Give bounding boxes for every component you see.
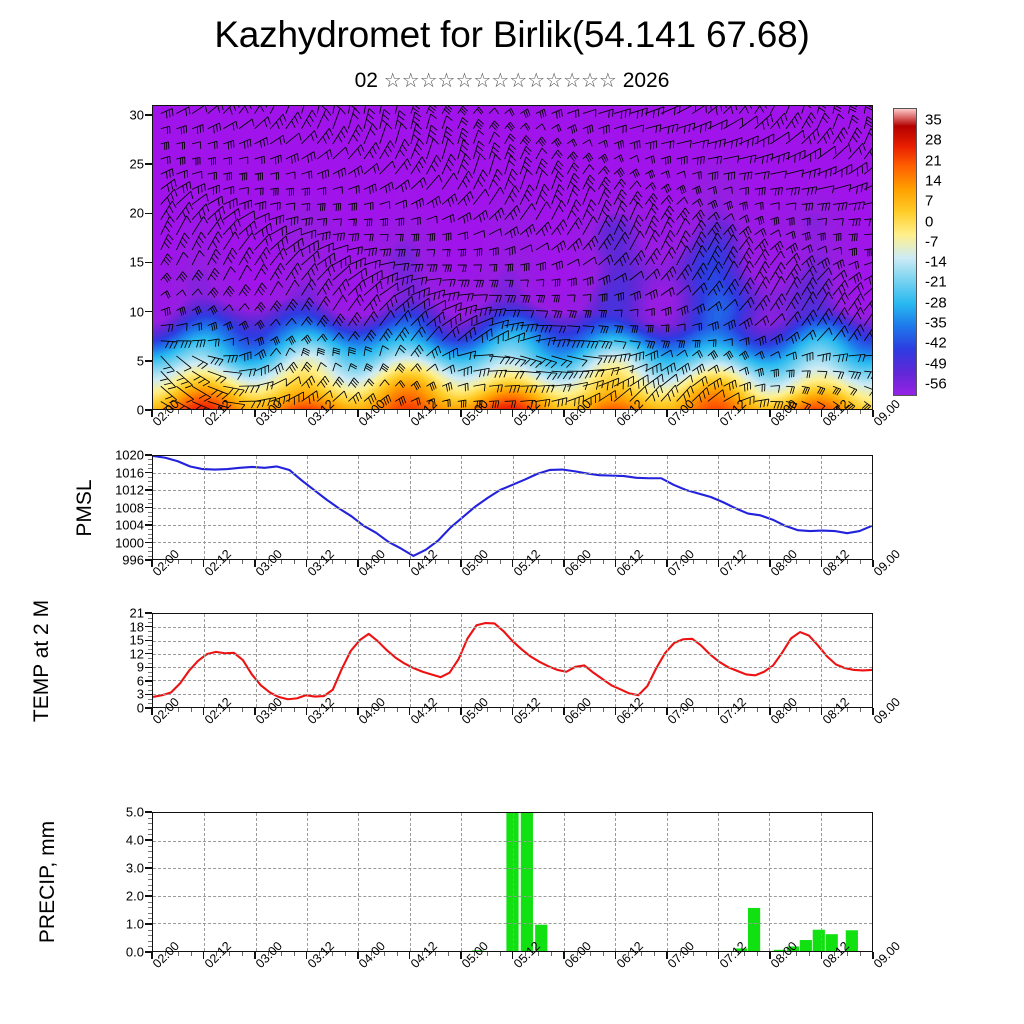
x-axis-minor-tick bbox=[551, 560, 552, 564]
y-axis-minor-tick bbox=[148, 464, 152, 465]
x-axis-minor-tick bbox=[178, 560, 179, 564]
x-axis-minor-tick bbox=[744, 560, 745, 564]
x-axis-minor-tick bbox=[191, 560, 192, 564]
x-axis-minor-tick bbox=[178, 410, 179, 414]
x-axis-minor-tick bbox=[680, 410, 681, 414]
x-axis-minor-tick bbox=[165, 952, 166, 956]
x-axis-label: 09.00 bbox=[871, 695, 903, 727]
y-axis-tick bbox=[145, 360, 152, 361]
y-axis-label: 0 bbox=[92, 701, 144, 716]
y-axis-tick bbox=[145, 472, 152, 473]
precipitation-axis-label: PRECIP, mm bbox=[36, 792, 60, 972]
grid-line-vertical bbox=[461, 813, 462, 951]
x-axis-minor-tick bbox=[525, 410, 526, 414]
y-axis-label: 1020 bbox=[92, 448, 144, 463]
y-axis-minor-tick bbox=[148, 918, 152, 919]
x-axis-minor-tick bbox=[487, 410, 488, 414]
x-axis-minor-tick bbox=[603, 410, 604, 414]
y-axis-minor-tick bbox=[148, 690, 152, 691]
x-axis-minor-tick bbox=[783, 952, 784, 956]
x-axis-minor-tick bbox=[809, 410, 810, 414]
y-axis-label: 1016 bbox=[92, 465, 144, 480]
y-axis-tick bbox=[145, 694, 152, 695]
x-axis-minor-tick bbox=[577, 410, 578, 414]
y-axis-label: 0 bbox=[92, 403, 144, 418]
x-axis-minor-tick bbox=[474, 708, 475, 712]
x-axis-minor-tick bbox=[796, 952, 797, 956]
y-axis-tick bbox=[145, 640, 152, 641]
x-axis-minor-tick bbox=[577, 560, 578, 564]
y-axis-label: 6 bbox=[92, 673, 144, 688]
x-axis-minor-tick bbox=[500, 708, 501, 712]
colorbar-label: 21 bbox=[925, 152, 942, 169]
x-axis-minor-tick bbox=[590, 560, 591, 564]
x-axis-minor-tick bbox=[268, 952, 269, 956]
x-axis-minor-tick bbox=[706, 560, 707, 564]
x-axis-minor-tick bbox=[229, 952, 230, 956]
y-axis-label: 996 bbox=[92, 553, 144, 568]
x-axis-minor-tick bbox=[757, 952, 758, 956]
x-axis-minor-tick bbox=[165, 708, 166, 712]
y-axis-tick bbox=[145, 213, 152, 214]
x-axis-minor-tick bbox=[860, 560, 861, 564]
y-axis-label: 25 bbox=[92, 157, 144, 172]
x-axis-minor-tick bbox=[538, 560, 539, 564]
x-axis-minor-tick bbox=[757, 708, 758, 712]
x-axis-minor-tick bbox=[281, 560, 282, 564]
y-axis-label: 2.0 bbox=[92, 889, 144, 904]
x-axis-minor-tick bbox=[847, 410, 848, 414]
x-axis-minor-tick bbox=[422, 560, 423, 564]
x-axis-minor-tick bbox=[834, 952, 835, 956]
x-axis-minor-tick bbox=[796, 708, 797, 712]
y-axis-tick bbox=[145, 895, 152, 896]
y-axis-label: 3 bbox=[92, 687, 144, 702]
y-axis-label: 12 bbox=[92, 646, 144, 661]
x-axis-minor-tick bbox=[397, 560, 398, 564]
x-axis-minor-tick bbox=[384, 952, 385, 956]
x-axis-minor-tick bbox=[783, 410, 784, 414]
subtitle-month-missing-glyphs: ☆☆☆☆☆☆☆☆☆☆☆☆☆ bbox=[384, 68, 617, 93]
y-axis-tick bbox=[145, 811, 152, 812]
x-axis-minor-tick bbox=[345, 560, 346, 564]
x-axis-minor-tick bbox=[500, 410, 501, 414]
x-axis-minor-tick bbox=[216, 708, 217, 712]
wind-barbs-overlay bbox=[153, 106, 872, 409]
x-axis-minor-tick bbox=[590, 410, 591, 414]
x-axis-minor-tick bbox=[834, 560, 835, 564]
grid-line-horizontal bbox=[153, 896, 872, 897]
grid-line-vertical bbox=[564, 813, 565, 951]
y-axis-tick bbox=[145, 489, 152, 490]
x-axis-minor-tick bbox=[191, 708, 192, 712]
x-axis-minor-tick bbox=[384, 560, 385, 564]
grid-line-horizontal bbox=[153, 508, 872, 509]
y-axis-minor-tick bbox=[148, 547, 152, 548]
x-axis-minor-tick bbox=[474, 560, 475, 564]
y-axis-tick bbox=[145, 114, 152, 115]
x-axis-minor-tick bbox=[603, 708, 604, 712]
temperature-2m-axis-label: TEMP at 2 M bbox=[30, 571, 54, 751]
x-axis-minor-tick bbox=[435, 708, 436, 712]
x-axis-minor-tick bbox=[281, 708, 282, 712]
y-axis-tick bbox=[145, 524, 152, 525]
x-axis-minor-tick bbox=[577, 708, 578, 712]
page-title: Kazhydromet for Birlik(54.141 67.68) bbox=[0, 14, 1024, 56]
pmsl-axis-label: PMSL bbox=[73, 418, 97, 598]
x-axis-minor-tick bbox=[371, 708, 372, 712]
x-axis-minor-tick bbox=[422, 410, 423, 414]
x-axis-minor-tick bbox=[538, 708, 539, 712]
x-axis-minor-tick bbox=[680, 952, 681, 956]
x-axis-minor-tick bbox=[525, 708, 526, 712]
y-axis-tick bbox=[145, 653, 152, 654]
y-axis-label: 20 bbox=[92, 206, 144, 221]
x-axis-minor-tick bbox=[809, 560, 810, 564]
x-axis-minor-tick bbox=[628, 708, 629, 712]
grid-line-vertical bbox=[204, 813, 205, 951]
x-axis-minor-tick bbox=[654, 952, 655, 956]
x-axis-minor-tick bbox=[757, 410, 758, 414]
y-axis-minor-tick bbox=[148, 902, 152, 903]
y-axis-minor-tick bbox=[148, 907, 152, 908]
y-axis-tick bbox=[145, 867, 152, 868]
x-axis-minor-tick bbox=[706, 708, 707, 712]
x-axis-minor-tick bbox=[487, 560, 488, 564]
x-axis-label: 09.00 bbox=[871, 397, 903, 429]
x-axis-minor-tick bbox=[294, 560, 295, 564]
y-axis-tick bbox=[145, 163, 152, 164]
grid-line-vertical bbox=[769, 813, 770, 951]
x-axis-minor-tick bbox=[216, 560, 217, 564]
grid-line-horizontal bbox=[153, 654, 872, 655]
y-axis-minor-tick bbox=[148, 676, 152, 677]
x-axis-minor-tick bbox=[706, 952, 707, 956]
y-axis-minor-tick bbox=[148, 521, 152, 522]
y-axis-label: 4.0 bbox=[92, 833, 144, 848]
y-axis-minor-tick bbox=[148, 481, 152, 482]
x-axis-minor-tick bbox=[525, 560, 526, 564]
colorbar-label: -21 bbox=[925, 274, 947, 291]
x-axis-minor-tick bbox=[371, 952, 372, 956]
y-axis-minor-tick bbox=[148, 946, 152, 947]
x-axis-minor-tick bbox=[847, 952, 848, 956]
x-axis-minor-tick bbox=[603, 560, 604, 564]
x-axis-minor-tick bbox=[191, 952, 192, 956]
x-axis-minor-tick bbox=[332, 952, 333, 956]
x-axis-minor-tick bbox=[487, 708, 488, 712]
y-axis-label: 15 bbox=[92, 633, 144, 648]
x-axis-minor-tick bbox=[860, 952, 861, 956]
x-axis-minor-tick bbox=[165, 410, 166, 414]
x-axis-minor-tick bbox=[783, 708, 784, 712]
x-axis-minor-tick bbox=[706, 410, 707, 414]
y-axis-tick bbox=[145, 454, 152, 455]
x-axis-minor-tick bbox=[487, 952, 488, 956]
y-axis-minor-tick bbox=[148, 930, 152, 931]
x-axis-minor-tick bbox=[757, 560, 758, 564]
grid-line-vertical bbox=[821, 813, 822, 951]
x-axis-minor-tick bbox=[834, 410, 835, 414]
y-axis-minor-tick bbox=[148, 529, 152, 530]
y-axis-minor-tick bbox=[148, 874, 152, 875]
y-axis-minor-tick bbox=[148, 622, 152, 623]
x-axis-minor-tick bbox=[319, 952, 320, 956]
temperature-colorbar bbox=[893, 108, 917, 396]
y-axis-minor-tick bbox=[148, 503, 152, 504]
x-axis-minor-tick bbox=[641, 952, 642, 956]
x-axis-minor-tick bbox=[242, 560, 243, 564]
x-axis-minor-tick bbox=[448, 952, 449, 956]
x-axis-minor-tick bbox=[422, 708, 423, 712]
x-axis-minor-tick bbox=[229, 560, 230, 564]
y-axis-minor-tick bbox=[148, 857, 152, 858]
y-axis-tick bbox=[145, 923, 152, 924]
x-axis-minor-tick bbox=[641, 560, 642, 564]
x-axis-minor-tick bbox=[731, 952, 732, 956]
x-axis-label: 09.00 bbox=[871, 547, 903, 579]
y-axis-minor-tick bbox=[148, 516, 152, 517]
x-axis-minor-tick bbox=[242, 708, 243, 712]
y-axis-minor-tick bbox=[148, 879, 152, 880]
x-axis-minor-tick bbox=[809, 952, 810, 956]
grid-line-vertical bbox=[667, 813, 668, 951]
colorbar-label: -49 bbox=[925, 355, 947, 372]
x-axis-minor-tick bbox=[371, 410, 372, 414]
x-axis-minor-tick bbox=[628, 952, 629, 956]
x-axis-label: 09.00 bbox=[871, 939, 903, 971]
grid-line-horizontal bbox=[153, 868, 872, 869]
x-axis-minor-tick bbox=[319, 708, 320, 712]
y-axis-minor-tick bbox=[148, 890, 152, 891]
x-axis-minor-tick bbox=[796, 560, 797, 564]
y-axis-minor-tick bbox=[148, 935, 152, 936]
grid-line-vertical bbox=[513, 813, 514, 951]
y-axis-label: 21 bbox=[92, 606, 144, 621]
y-axis-tick bbox=[145, 507, 152, 508]
x-axis-minor-tick bbox=[847, 560, 848, 564]
x-axis-minor-tick bbox=[294, 708, 295, 712]
x-axis-minor-tick bbox=[693, 410, 694, 414]
y-axis-tick bbox=[145, 262, 152, 263]
y-axis-tick bbox=[145, 839, 152, 840]
colorbar-label: 7 bbox=[925, 193, 933, 210]
y-axis-label: 30 bbox=[92, 107, 144, 122]
colorbar-label: -35 bbox=[925, 315, 947, 332]
y-axis-minor-tick bbox=[148, 658, 152, 659]
y-axis-minor-tick bbox=[148, 862, 152, 863]
x-axis-minor-tick bbox=[178, 708, 179, 712]
grid-line-vertical bbox=[615, 813, 616, 951]
y-axis-minor-tick bbox=[148, 534, 152, 535]
colorbar-label: -42 bbox=[925, 335, 947, 352]
x-axis-minor-tick bbox=[294, 952, 295, 956]
x-axis-minor-tick bbox=[680, 708, 681, 712]
x-axis-minor-tick bbox=[319, 410, 320, 414]
y-axis-minor-tick bbox=[148, 645, 152, 646]
x-axis-minor-tick bbox=[448, 708, 449, 712]
y-axis-tick bbox=[145, 612, 152, 613]
x-axis-minor-tick bbox=[603, 952, 604, 956]
y-axis-minor-tick bbox=[148, 672, 152, 673]
x-axis-minor-tick bbox=[319, 560, 320, 564]
x-axis-minor-tick bbox=[242, 410, 243, 414]
pmsl-plot bbox=[152, 455, 873, 560]
x-axis-minor-tick bbox=[294, 410, 295, 414]
y-axis-tick bbox=[145, 626, 152, 627]
y-axis-minor-tick bbox=[148, 834, 152, 835]
y-axis-minor-tick bbox=[148, 649, 152, 650]
x-axis-minor-tick bbox=[345, 708, 346, 712]
x-axis-minor-tick bbox=[345, 952, 346, 956]
x-axis-minor-tick bbox=[500, 560, 501, 564]
x-axis-minor-tick bbox=[834, 708, 835, 712]
y-axis-minor-tick bbox=[148, 699, 152, 700]
colorbar-label: 28 bbox=[925, 132, 942, 149]
x-axis-minor-tick bbox=[641, 708, 642, 712]
y-axis-label: 5 bbox=[92, 353, 144, 368]
x-axis-minor-tick bbox=[371, 560, 372, 564]
x-axis-minor-tick bbox=[783, 560, 784, 564]
x-axis-minor-tick bbox=[242, 952, 243, 956]
x-axis-minor-tick bbox=[860, 410, 861, 414]
x-axis-minor-tick bbox=[422, 952, 423, 956]
subtitle-date: 02 ☆☆☆☆☆☆☆☆☆☆☆☆☆ 2026 bbox=[0, 68, 1024, 93]
y-axis-minor-tick bbox=[148, 941, 152, 942]
x-axis-minor-tick bbox=[654, 560, 655, 564]
colorbar-label: -56 bbox=[925, 376, 947, 393]
grid-line-vertical bbox=[410, 813, 411, 951]
y-axis-label: 1004 bbox=[92, 518, 144, 533]
x-axis-minor-tick bbox=[628, 410, 629, 414]
x-axis-minor-tick bbox=[809, 708, 810, 712]
x-axis-minor-tick bbox=[590, 952, 591, 956]
y-axis-minor-tick bbox=[148, 818, 152, 819]
x-axis-minor-tick bbox=[384, 708, 385, 712]
y-axis-label: 1000 bbox=[92, 535, 144, 550]
y-axis-minor-tick bbox=[148, 885, 152, 886]
y-axis-label: 9 bbox=[92, 660, 144, 675]
x-axis-minor-tick bbox=[165, 560, 166, 564]
x-axis-minor-tick bbox=[332, 410, 333, 414]
x-axis-minor-tick bbox=[500, 952, 501, 956]
precipitation-bar bbox=[748, 908, 760, 952]
grid-line-horizontal bbox=[153, 473, 872, 474]
y-axis-tick bbox=[145, 542, 152, 543]
x-axis-minor-tick bbox=[216, 952, 217, 956]
y-axis-minor-tick bbox=[148, 486, 152, 487]
y-axis-minor-tick bbox=[148, 556, 152, 557]
x-axis-minor-tick bbox=[731, 560, 732, 564]
cross-section-plot bbox=[152, 105, 873, 410]
x-axis-minor-tick bbox=[448, 410, 449, 414]
colorbar-label: 0 bbox=[925, 213, 933, 230]
grid-line-vertical bbox=[358, 813, 359, 951]
grid-line-horizontal bbox=[153, 525, 872, 526]
y-axis-tick bbox=[145, 680, 152, 681]
y-axis-label: 18 bbox=[92, 619, 144, 634]
x-axis-minor-tick bbox=[474, 952, 475, 956]
y-axis-minor-tick bbox=[148, 468, 152, 469]
x-axis-minor-tick bbox=[268, 410, 269, 414]
y-axis-label: 0.0 bbox=[92, 945, 144, 960]
y-axis-minor-tick bbox=[148, 631, 152, 632]
x-axis-minor-tick bbox=[178, 952, 179, 956]
x-axis-minor-tick bbox=[693, 708, 694, 712]
x-axis-minor-tick bbox=[860, 708, 861, 712]
x-axis-minor-tick bbox=[448, 560, 449, 564]
x-axis-minor-tick bbox=[847, 708, 848, 712]
x-axis-minor-tick bbox=[577, 952, 578, 956]
y-axis-label: 5.0 bbox=[92, 805, 144, 820]
x-axis-minor-tick bbox=[435, 410, 436, 414]
x-axis-minor-tick bbox=[744, 708, 745, 712]
x-axis-minor-tick bbox=[397, 708, 398, 712]
x-axis-minor-tick bbox=[693, 560, 694, 564]
x-axis-minor-tick bbox=[435, 952, 436, 956]
precipitation-bar bbox=[813, 930, 825, 952]
precipitation-bar bbox=[521, 813, 533, 952]
y-axis-minor-tick bbox=[148, 538, 152, 539]
x-axis-minor-tick bbox=[551, 952, 552, 956]
y-axis-minor-tick bbox=[148, 494, 152, 495]
y-axis-label: 15 bbox=[92, 255, 144, 270]
subtitle-day: 02 bbox=[355, 69, 378, 92]
x-axis-minor-tick bbox=[229, 708, 230, 712]
x-axis-minor-tick bbox=[345, 410, 346, 414]
y-axis-label: 1012 bbox=[92, 483, 144, 498]
x-axis-minor-tick bbox=[281, 952, 282, 956]
subtitle-year: 2026 bbox=[623, 69, 670, 92]
colorbar-label: -28 bbox=[925, 294, 947, 311]
x-axis-minor-tick bbox=[654, 708, 655, 712]
y-axis-minor-tick bbox=[148, 512, 152, 513]
precipitation-bar bbox=[800, 940, 812, 952]
x-axis-minor-tick bbox=[435, 560, 436, 564]
y-axis-minor-tick bbox=[148, 499, 152, 500]
x-axis-minor-tick bbox=[551, 708, 552, 712]
grid-line-horizontal bbox=[153, 923, 872, 924]
y-axis-minor-tick bbox=[148, 477, 152, 478]
colorbar-label: 35 bbox=[925, 112, 942, 129]
colorbar-label: -7 bbox=[925, 233, 938, 250]
x-axis-minor-tick bbox=[731, 708, 732, 712]
x-axis-minor-tick bbox=[191, 410, 192, 414]
y-axis-label: 1008 bbox=[92, 500, 144, 515]
x-axis-minor-tick bbox=[744, 952, 745, 956]
grid-line-horizontal bbox=[153, 694, 872, 695]
y-axis-minor-tick bbox=[148, 829, 152, 830]
grid-line-horizontal bbox=[153, 841, 872, 842]
x-axis-minor-tick bbox=[384, 410, 385, 414]
y-axis-minor-tick bbox=[148, 636, 152, 637]
y-axis-label: 3.0 bbox=[92, 861, 144, 876]
x-axis-minor-tick bbox=[654, 410, 655, 414]
x-axis-minor-tick bbox=[268, 708, 269, 712]
y-axis-minor-tick bbox=[148, 551, 152, 552]
y-axis-label: 1.0 bbox=[92, 917, 144, 932]
grid-line-horizontal bbox=[153, 627, 872, 628]
grid-line-horizontal bbox=[153, 641, 872, 642]
x-axis-minor-tick bbox=[744, 410, 745, 414]
x-axis-minor-tick bbox=[474, 410, 475, 414]
grid-line-horizontal bbox=[153, 542, 872, 543]
y-axis-minor-tick bbox=[148, 685, 152, 686]
grid-line-horizontal bbox=[153, 680, 872, 681]
grid-line-vertical bbox=[307, 813, 308, 951]
y-axis-minor-tick bbox=[148, 703, 152, 704]
temperature-2m-plot bbox=[152, 613, 873, 708]
